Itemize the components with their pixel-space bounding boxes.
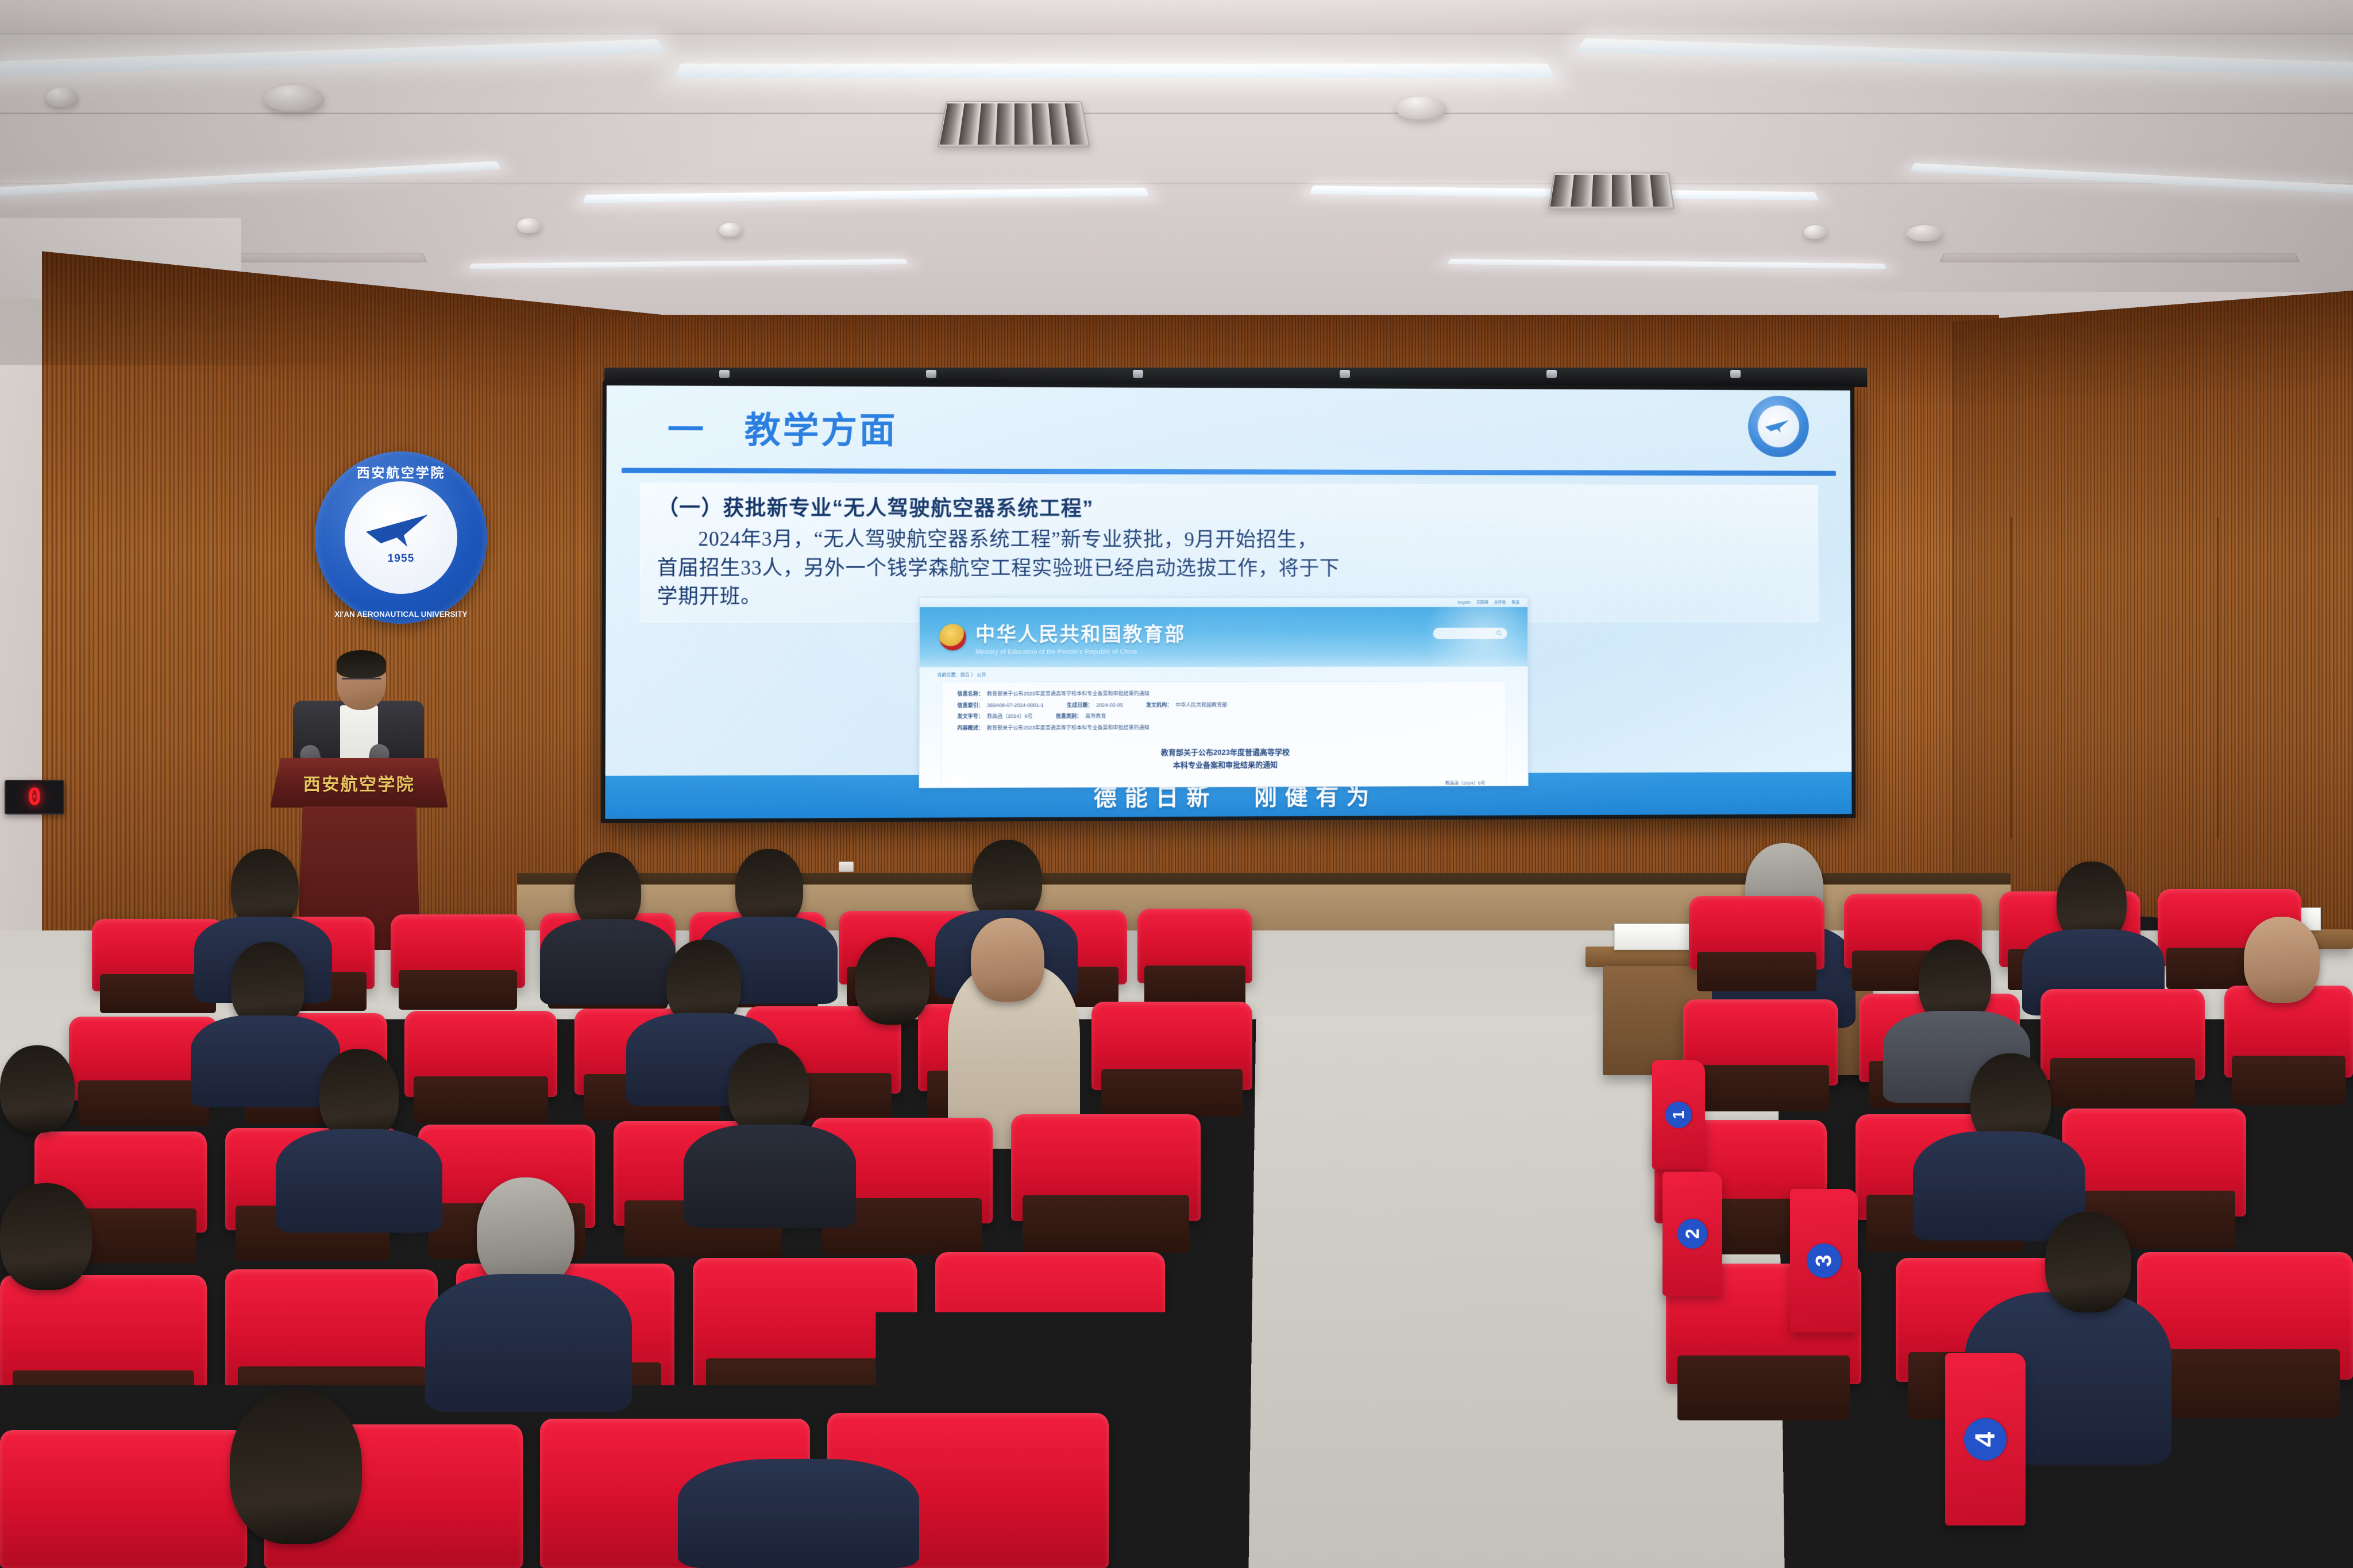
ceiling-air-vent [1548,173,1675,210]
smoke-detector [46,87,78,107]
moe-search-input[interactable] [1433,628,1507,639]
ceiling-seam [0,183,2353,184]
moe-meta-value: 360A08-07-2024-0001-1 [987,701,1044,709]
auditorium-seat[interactable] [225,1269,438,1397]
moe-meta-value: 2024-02-05 [1096,701,1123,709]
wall-outlet[interactable] [839,862,854,872]
attendee-head [972,840,1042,921]
ceiling-recess [1939,254,2300,262]
aisle-seat-side-left[interactable]: 4 [942,1287,1017,1453]
slide-lead-line: （一）获批新专业“无人驾驶航空器系统工程” [657,491,1802,523]
emblem-name-cn: 西安航空学院 [315,462,487,481]
ceiling-light-strip [675,64,1554,78]
ceiling-speaker [1396,96,1446,119]
ceiling-air-vent [938,101,1090,148]
door-seam [2011,517,2012,839]
podium-nameplate-text: 西安航空学院 [303,770,415,795]
auditorium-seat[interactable] [404,1011,557,1097]
seat-number-badge: 4 [1964,1418,2007,1461]
moe-doc-title: 教育部关于公布2023年度普通高等学校 本科专业备案和审批结果的通知 [957,746,1491,773]
ceiling-seam [0,113,2353,114]
speaker-hair [337,650,386,678]
projection-screen[interactable]: 一 教学方面 （一）获批新专业“无人驾驶航空器系统工程” 2024年3月，“无人… [601,381,1856,823]
auditorium-seat[interactable] [1689,896,1824,970]
moe-meta-key: 内容概述： [957,724,983,732]
moe-meta-key: 发文机构： [1146,701,1172,709]
attendee-head [0,1183,92,1290]
attendee-shoulders [540,919,676,1005]
moe-meta-key: 信息类别： [1056,713,1082,721]
smoke-detector [719,223,742,237]
moe-site-names: 中华人民共和国教育部 Ministry of Education of the … [975,619,1186,655]
auditorium-seat[interactable] [1137,909,1252,983]
attendee-head [971,918,1044,1002]
auditorium-seat[interactable] [1091,1002,1252,1090]
auditorium-seat[interactable] [2062,1109,2246,1216]
slide-body: （一）获批新专业“无人驾驶航空器系统工程” 2024年3月，“无人驾驶航空器系统… [605,473,1852,776]
attendee-head [2244,917,2320,1003]
emblem-center: 1955 [345,481,457,594]
auditorium-seat[interactable] [0,1275,207,1400]
attendee-head [855,937,929,1025]
led-clock-display: 0 [5,780,64,814]
moe-meta-row: 内容概述： 教育部关于公布2023年度普通高等学校本科专业备案和审批结果的通知 [957,723,1491,732]
slide-header: 一 教学方面 [606,385,1850,471]
embedded-moe-webpage-screenshot: English 无障碍 关怀版 登录 中华人民共和国教育部 Ministry o… [919,597,1528,788]
eyeglasses-icon [342,678,381,686]
auditorium-scene: 西安航空学院 1955 XI'AN AERONAUTICAL UNIVERSIT… [0,0,2353,1568]
moe-meta-value: 教高函〔2024〕6号 [987,713,1033,721]
moe-topbar-link[interactable]: 登录 [1511,600,1519,605]
aisle-seat-side-2[interactable]: 2 [1662,1172,1722,1296]
seat-number-badge: 3 [1807,1243,1841,1278]
moe-banner: 中华人民共和国教育部 Ministry of Education of the … [920,607,1527,667]
slide-title: 一 教学方面 [668,401,898,454]
emblem-name-en: XI'AN AERONAUTICAL UNIVERSITY [315,610,487,619]
moe-meta-key: 信息名称： [957,690,983,698]
search-icon [1496,630,1503,637]
attendee-shoulders [276,1129,442,1233]
attendee-head [319,1049,399,1141]
moe-document-card: 信息名称： 教育部关于公布2023年度普通高等学校本科专业备案和审批结果的通知 … [942,681,1506,788]
aisle-seat-side-3[interactable]: 3 [1790,1189,1858,1333]
auditorium-seat[interactable] [0,1430,247,1568]
moe-meta-value: 高等教育 [1085,713,1106,721]
seat-number-badge: 2 [1677,1219,1707,1249]
attendee-shoulders [425,1274,632,1412]
moe-topbar-link[interactable]: 无障碍 [1476,600,1488,605]
attendee-head [728,1043,809,1136]
moe-meta-key: 信息索引： [957,701,983,709]
attendee-shoulders [191,1015,340,1107]
moe-meta-key: 生成日期： [1067,701,1093,709]
ceiling-band-front [0,0,2353,34]
moe-meta-value: 教育部关于公布2023年度普通高等学校本科专业备案和审批结果的通知 [987,724,1150,732]
aisle-seat-side-4[interactable]: 4 [1945,1353,2026,1525]
moe-breadcrumb: 当前位置：首页 〉 公开 [920,666,1528,681]
auditorium-seat[interactable] [2040,989,2205,1080]
ceiling-speaker [264,85,324,111]
slide-body-line: 首届招生33人，另外一个钱学森航空工程实验班已经启动选拔工作，将于下 [657,554,1802,583]
moe-meta-row: 发文字号： 教高函〔2024〕6号 信息类别： 高等教育 [957,712,1491,721]
led-clock-digits: 0 [28,786,41,809]
smoke-detector [517,218,541,233]
moe-site-name-cn: 中华人民共和国教育部 [975,619,1186,647]
aircraft-icon [1764,419,1793,435]
emblem-year: 1955 [388,553,415,565]
moe-site-name-en: Ministry of Education of the People's Re… [975,648,1186,655]
podium-nameplate: 西安航空学院 [270,758,448,808]
university-emblem-wall: 西安航空学院 1955 XI'AN AERONAUTICAL UNIVERSIT… [315,451,487,624]
moe-meta-key: 发文字号： [957,713,983,721]
moe-topbar: English 无障碍 关怀版 登录 [920,598,1527,607]
speaker-head [337,650,386,710]
auditorium-seat[interactable] [391,914,525,988]
seat-number-badge: 4 [961,1351,998,1389]
moe-meta-value: 教育部关于公布2023年度普通高等学校本科专业备案和审批结果的通知 [987,690,1150,698]
aisle-seat-side-1[interactable]: 1 [1652,1060,1705,1169]
aircraft-icon [364,510,438,551]
national-emblem-icon [939,624,966,650]
moe-doc-title-line: 本科专业备案和审批结果的通知 [957,758,1491,773]
moe-topbar-link[interactable]: English [1457,601,1471,605]
moe-meta-row: 信息名称： 教育部关于公布2023年度普通高等学校本科专业备案和审批结果的通知 [957,689,1491,698]
presentation-slide: 一 教学方面 （一）获批新专业“无人驾驶航空器系统工程” 2024年3月，“无人… [605,385,1851,819]
attendee-head [2045,1212,2131,1312]
attendee-head [230,1390,362,1544]
auditorium-seat[interactable] [1011,1114,1201,1221]
attendee-shoulders [678,1459,919,1568]
slide-body-line: 2024年3月，“无人驾驶航空器系统工程”新专业获批，9月开始招生， [657,525,1802,555]
smoke-detector [1804,225,1827,239]
moe-topbar-link[interactable]: 关怀版 [1494,600,1506,605]
attendee-shoulders [684,1125,856,1228]
seat-number-badge: 1 [1665,1102,1692,1128]
moe-doc-title-line: 教育部关于公布2023年度普通高等学校 [957,746,1491,760]
slide-university-logo-icon [1748,396,1809,457]
auditorium-seat[interactable] [1683,999,1838,1086]
moe-meta-row: 信息索引： 360A08-07-2024-0001-1 生成日期： 2024-0… [957,701,1491,709]
auditorium-seat[interactable] [693,1258,917,1390]
attendee-head [477,1177,574,1290]
attendee-head [0,1045,75,1133]
wood-panel-right [1953,287,2353,937]
moe-meta-value: 中华人民共和国教育部 [1175,701,1227,709]
ceiling-speaker [1907,225,1943,241]
door-seam [2217,517,2219,839]
